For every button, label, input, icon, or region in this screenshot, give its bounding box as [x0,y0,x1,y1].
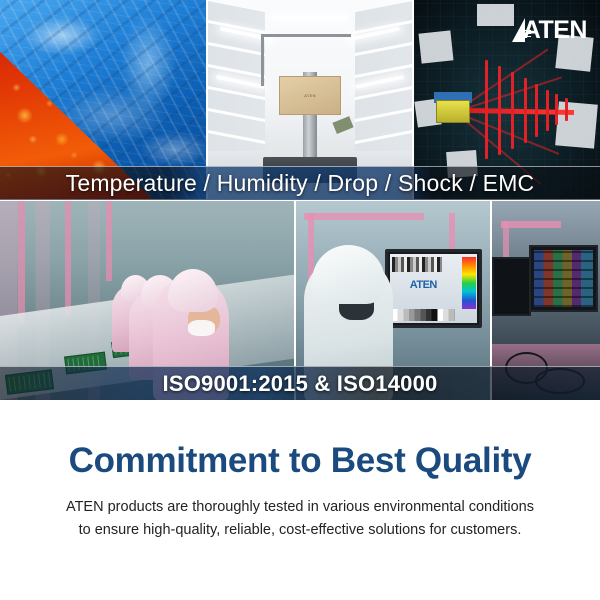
antenna-element [565,98,568,122]
antenna-element [498,66,501,156]
bottom-text-block: Commitment to Best Quality ATEN products… [0,400,600,600]
caption-certifications: ISO9001:2015 & ISO14000 [0,366,600,400]
bench-frame [501,221,561,228]
antenna-element [511,72,514,150]
bench-monitor-secondary [492,257,531,317]
monitor-screen: ATEN [390,254,477,324]
emc-panel [418,30,453,63]
antenna-element [485,60,488,160]
light-stripe [273,16,346,20]
aten-logo-a-mark [512,18,525,42]
test-pattern-bars [392,257,442,272]
headline: Commitment to Best Quality [69,442,532,480]
aten-logo-text: ATEN [523,18,587,42]
qc-test-monitor: ATEN [385,249,482,329]
quality-poster: ATEN [0,0,600,600]
device-under-test [436,100,469,124]
caption-test-types: Temperature / Humidity / Drop / Shock / … [0,166,600,200]
grayscale-bars [392,309,455,320]
assembly-rail [18,201,25,324]
antenna-element [555,94,558,126]
assembly-rail [65,201,71,316]
assembly-rail [106,201,112,281]
antenna-element [546,90,549,132]
aten-logo: ATEN [512,18,587,42]
monitor-video-tiles [534,250,593,308]
color-bars [462,257,476,310]
drop-test-carton: ATEN [279,76,340,116]
worker-mask [188,320,214,336]
antenna-element [524,78,527,144]
antenna-element [535,84,538,138]
drop-tester-arm [261,34,351,37]
qc-rail [304,213,424,220]
emc-panel [477,4,514,26]
image-collage: ATEN [0,0,600,400]
bench-monitor-primary [529,245,598,313]
description-line-1: ATEN products are thoroughly tested in v… [66,496,534,519]
description: ATEN products are thoroughly tested in v… [66,496,534,543]
description-line-2: to ensure high-quality, reliable, cost-e… [66,519,534,542]
screen-aten-logo: ATEN [401,276,446,294]
drop-tester-arm-vertical [261,34,264,86]
